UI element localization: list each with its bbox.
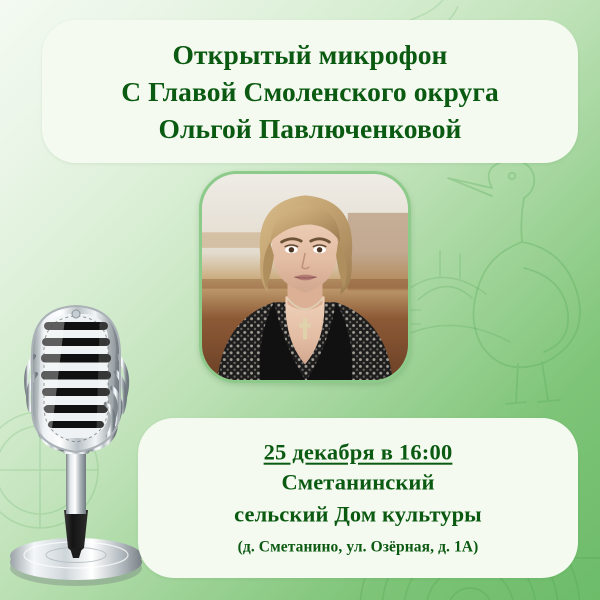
portrait-image <box>202 174 408 380</box>
microphone-icon <box>0 296 160 596</box>
event-info-card: 25 декабря в 16:00 Сметанинский сельский… <box>138 418 578 578</box>
microphone-illustration <box>0 296 160 596</box>
title-line-1: Открытый микрофон <box>42 35 578 72</box>
title-card: Открытый микрофон С Главой Смоленского о… <box>42 20 578 163</box>
bird-line-art-watermark <box>396 150 600 420</box>
poster: Открытый микрофон С Главой Смоленского о… <box>0 0 600 600</box>
venue-address: (д. Сметанино, ул. Озёрная, д. 1А) <box>138 538 578 556</box>
title-line-3: Ольгой Павлюченковой <box>42 110 578 147</box>
event-date-time: 25 декабря в 16:00 <box>264 440 453 466</box>
venue-line-2: сельский Дом культуры <box>138 501 578 530</box>
title-line-2: С Главой Смоленского округа <box>42 73 578 110</box>
poster-title: Открытый микрофон С Главой Смоленского о… <box>42 35 578 147</box>
venue-line-1: Сметанинский <box>138 469 578 498</box>
speaker-portrait <box>199 171 411 383</box>
